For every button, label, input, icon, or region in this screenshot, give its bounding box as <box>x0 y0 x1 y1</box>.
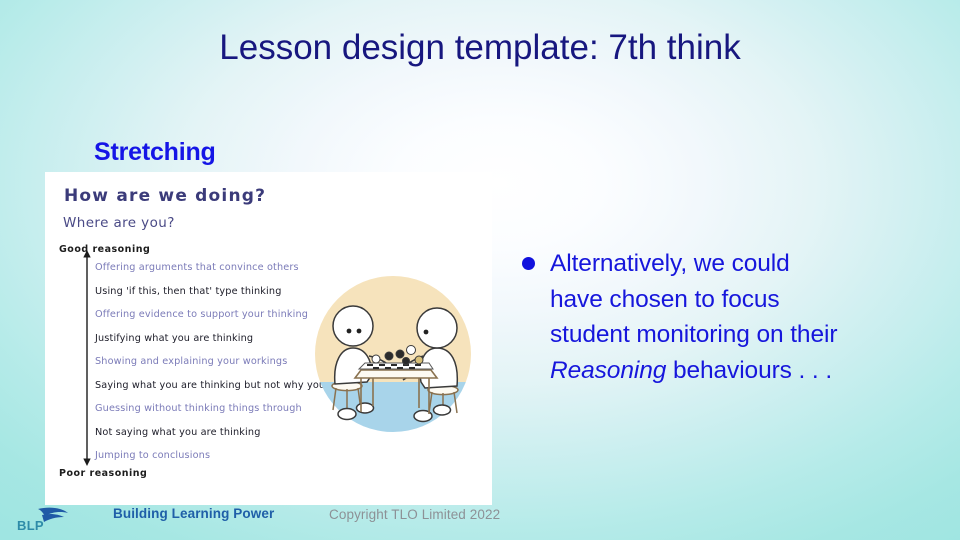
chess-players-illustration <box>303 264 483 444</box>
bullet-line-4-rest: behaviours . . . <box>666 357 832 384</box>
bullet-line-3: student monitoring on their <box>550 321 837 348</box>
footer-copyright-text: Copyright TLO Limited 2022 <box>329 507 500 522</box>
bullet-text: Alternatively, we could have chosen to f… <box>550 246 837 388</box>
vertical-double-arrow-icon <box>81 250 93 466</box>
bullet-line-2: have chosen to focus <box>550 286 780 313</box>
panel-heading: How are we doing? <box>64 186 266 206</box>
axis-label-good-reasoning: Good reasoning <box>59 244 150 255</box>
page-title: Lesson design template: 7th think <box>0 28 960 68</box>
footer-brand-text: Building Learning Power <box>113 506 274 521</box>
blp-logo: BLP <box>12 506 70 534</box>
bullet-line-1: Alternatively, we could <box>550 250 790 277</box>
svg-text:BLP: BLP <box>17 518 44 533</box>
reasoning-ladder-panel: How are we doing? Where are you? Good re… <box>45 172 492 505</box>
bullet-emphasis-reasoning: Reasoning <box>550 357 666 384</box>
list-item: Alternatively, we could have chosen to f… <box>513 246 953 388</box>
reasoning-rung: Jumping to conclusions <box>95 444 355 468</box>
bullet-list: Alternatively, we could have chosen to f… <box>513 246 953 388</box>
bullet-marker-icon <box>522 257 535 270</box>
slide-canvas: Lesson design template: 7th think Stretc… <box>0 0 960 540</box>
panel-subheading: Where are you? <box>63 215 175 231</box>
axis-label-poor-reasoning: Poor reasoning <box>59 468 147 479</box>
section-heading-stretching: Stretching <box>94 138 216 167</box>
